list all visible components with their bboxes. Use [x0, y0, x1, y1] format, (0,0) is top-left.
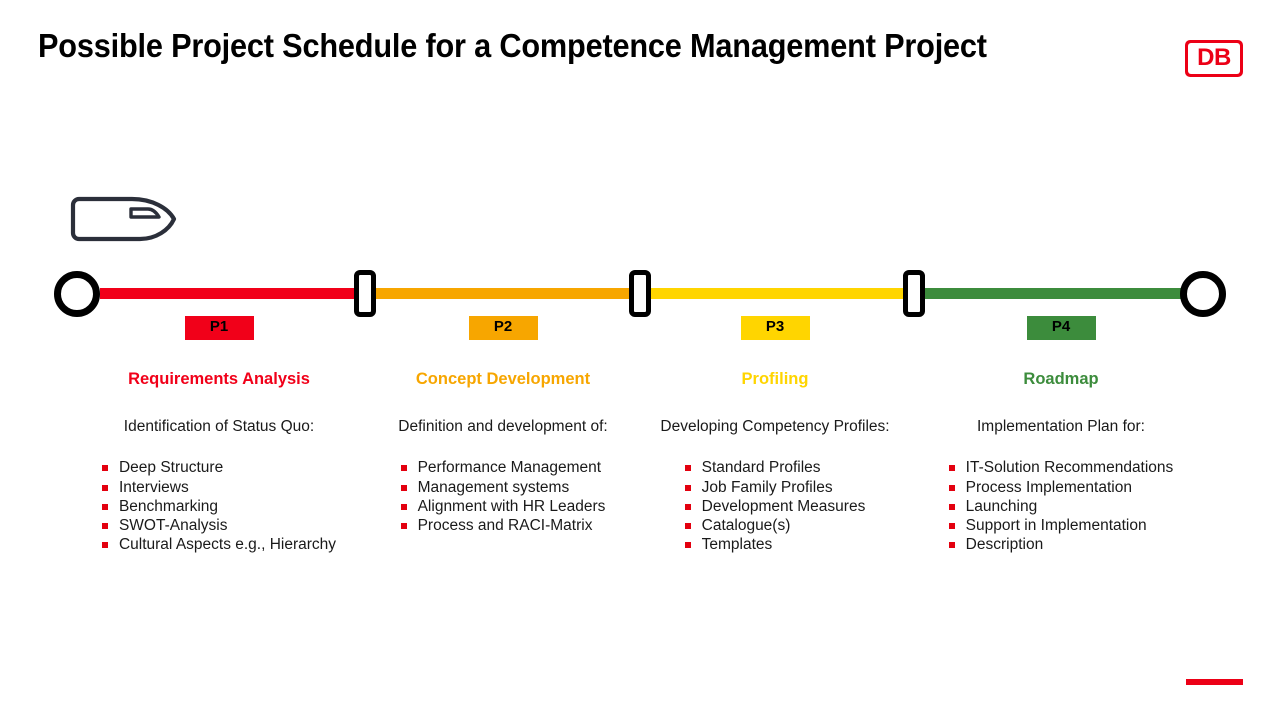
track-segment-p2 — [374, 288, 631, 299]
phase-name-p2: Concept Development — [373, 370, 633, 388]
db-logo-inner: DB — [1188, 43, 1240, 74]
list-item: Job Family Profiles — [685, 478, 866, 497]
phase-intro-p1: Identification of Status Quo: — [89, 418, 349, 437]
list-item: Alignment with HR Leaders — [401, 497, 606, 516]
phase-name-p4: Roadmap — [931, 370, 1191, 388]
phase-intro-p3: Developing Competency Profiles: — [645, 418, 905, 437]
track-segment-p4 — [923, 288, 1185, 299]
list-item: Launching — [949, 497, 1174, 516]
list-item: Benchmarking — [102, 497, 336, 516]
list-item: SWOT-Analysis — [102, 516, 336, 535]
list-item: IT-Solution Recommendations — [949, 458, 1174, 477]
track-segment-p1 — [100, 288, 356, 299]
phase-list-p2: Performance Management Management system… — [401, 458, 606, 535]
phase-intro-p2: Definition and development of: — [373, 418, 633, 437]
list-item: Templates — [685, 535, 866, 554]
milestone-marker-icon-3 — [903, 270, 925, 317]
phase-list-p3: Standard Profiles Job Family Profiles De… — [685, 458, 866, 554]
start-circle-icon — [54, 271, 100, 317]
list-item: Development Measures — [685, 497, 866, 516]
phase-column-p4: P4 Roadmap Implementation Plan for: IT-S… — [931, 316, 1191, 555]
phase-column-p1: P1 Requirements Analysis Identification … — [89, 316, 349, 555]
phase-name-p1: Requirements Analysis — [89, 370, 349, 388]
phase-column-p3: P3 Profiling Developing Competency Profi… — [645, 316, 905, 555]
list-item: Description — [949, 535, 1174, 554]
phase-badge-p3[interactable]: P3 — [741, 316, 810, 340]
bottom-accent-bar — [1186, 679, 1243, 685]
phase-name-p3: Profiling — [645, 370, 905, 388]
phase-badge-p1[interactable]: P1 — [185, 316, 254, 340]
phase-list-p4: IT-Solution Recommendations Process Impl… — [949, 458, 1174, 554]
list-item: Catalogue(s) — [685, 516, 866, 535]
phase-badge-p2[interactable]: P2 — [469, 316, 538, 340]
track-segment-p3 — [649, 288, 905, 299]
list-item: Process Implementation — [949, 478, 1174, 497]
list-item: Process and RACI-Matrix — [401, 516, 606, 535]
end-circle-icon — [1180, 271, 1226, 317]
phase-list-p1: Deep Structure Interviews Benchmarking S… — [102, 458, 336, 554]
phase-intro-p4: Implementation Plan for: — [931, 418, 1191, 437]
list-item: Management systems — [401, 478, 606, 497]
train-icon — [70, 195, 180, 243]
page-title: Possible Project Schedule for a Competen… — [38, 27, 987, 65]
db-logo-text: DB — [1197, 46, 1231, 70]
list-item: Interviews — [102, 478, 336, 497]
milestone-marker-icon-2 — [629, 270, 651, 317]
list-item: Cultural Aspects e.g., Hierarchy — [102, 535, 336, 554]
phase-column-p2: P2 Concept Development Definition and de… — [373, 316, 633, 535]
list-item: Support in Implementation — [949, 516, 1174, 535]
list-item: Deep Structure — [102, 458, 336, 477]
db-logo: DB — [1185, 40, 1243, 77]
milestone-marker-icon-1 — [354, 270, 376, 317]
phase-badge-p4[interactable]: P4 — [1027, 316, 1096, 340]
list-item: Standard Profiles — [685, 458, 866, 477]
list-item: Performance Management — [401, 458, 606, 477]
